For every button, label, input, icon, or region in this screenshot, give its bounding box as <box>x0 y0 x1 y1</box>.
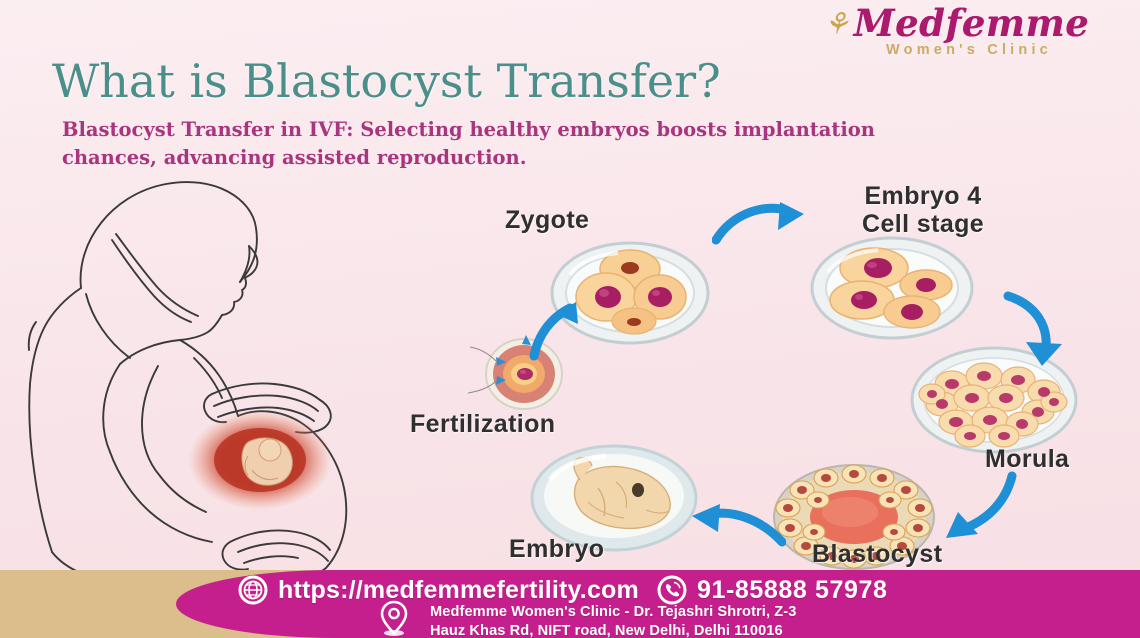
footer-bar: https://medfemmefertility.com 91-85888 5… <box>0 570 1140 638</box>
arrow-blastocyst-to-embryo-icon <box>690 500 786 552</box>
footer-contact-panel: https://medfemmefertility.com 91-85888 5… <box>176 570 1140 638</box>
stage-label-zygote: Zygote <box>505 206 589 234</box>
stage-label-fertilization: Fertilization <box>410 410 555 438</box>
fetus-illustration <box>242 438 292 485</box>
footer-address: Medfemme Women's Clinic - Dr. Tejashri S… <box>430 603 796 638</box>
ornament-glyph-icon: ⚘ <box>823 10 850 40</box>
footer-address-line2: Hauz Khas Rd, NIFT road, New Delhi, Delh… <box>430 622 796 638</box>
pregnant-woman-illustration <box>8 170 398 585</box>
stage-label-blastocyst: Blastocyst <box>812 540 942 568</box>
location-pin-icon <box>376 599 412 637</box>
footer-phone-number[interactable]: 91-85888 57978 <box>697 576 888 605</box>
brand-logo-row: ⚘ Medfemme <box>806 4 1106 43</box>
brand-logo: ⚘ Medfemme Women's Clinic <box>806 4 1106 58</box>
stage-label-embryo4: Embryo 4 Cell stage <box>862 182 984 238</box>
stage-label-embryo4-line1: Embryo 4 <box>862 182 984 210</box>
phone-icon <box>657 575 687 605</box>
stage-label-morula: Morula <box>985 445 1069 473</box>
stage-embryo4-illustration <box>808 230 976 342</box>
arrow-fertilization-to-zygote-icon <box>520 300 590 362</box>
stage-label-embryo4-line2: Cell stage <box>862 210 984 238</box>
page-title: What is Blastocyst Transfer? <box>52 54 721 108</box>
footer-address-line1: Medfemme Women's Clinic - Dr. Tejashri S… <box>430 603 796 622</box>
globe-icon <box>238 575 268 605</box>
arrow-morula-to-blastocyst-icon <box>940 470 1020 546</box>
infographic-poster: ⚘ Medfemme Women's Clinic What is Blasto… <box>0 0 1140 638</box>
arrow-zygote-to-embryo4-icon <box>712 196 808 254</box>
arrow-embryo4-to-morula-icon <box>1000 290 1070 368</box>
footer-website-link[interactable]: https://medfemmefertility.com <box>278 576 639 605</box>
page-subtitle: Blastocyst Transfer in IVF: Selecting he… <box>62 116 962 173</box>
stage-label-embryo: Embryo <box>509 535 604 563</box>
footer-primary-row: https://medfemmefertility.com 91-85888 5… <box>238 575 887 605</box>
brand-name: Medfemme <box>854 4 1090 43</box>
